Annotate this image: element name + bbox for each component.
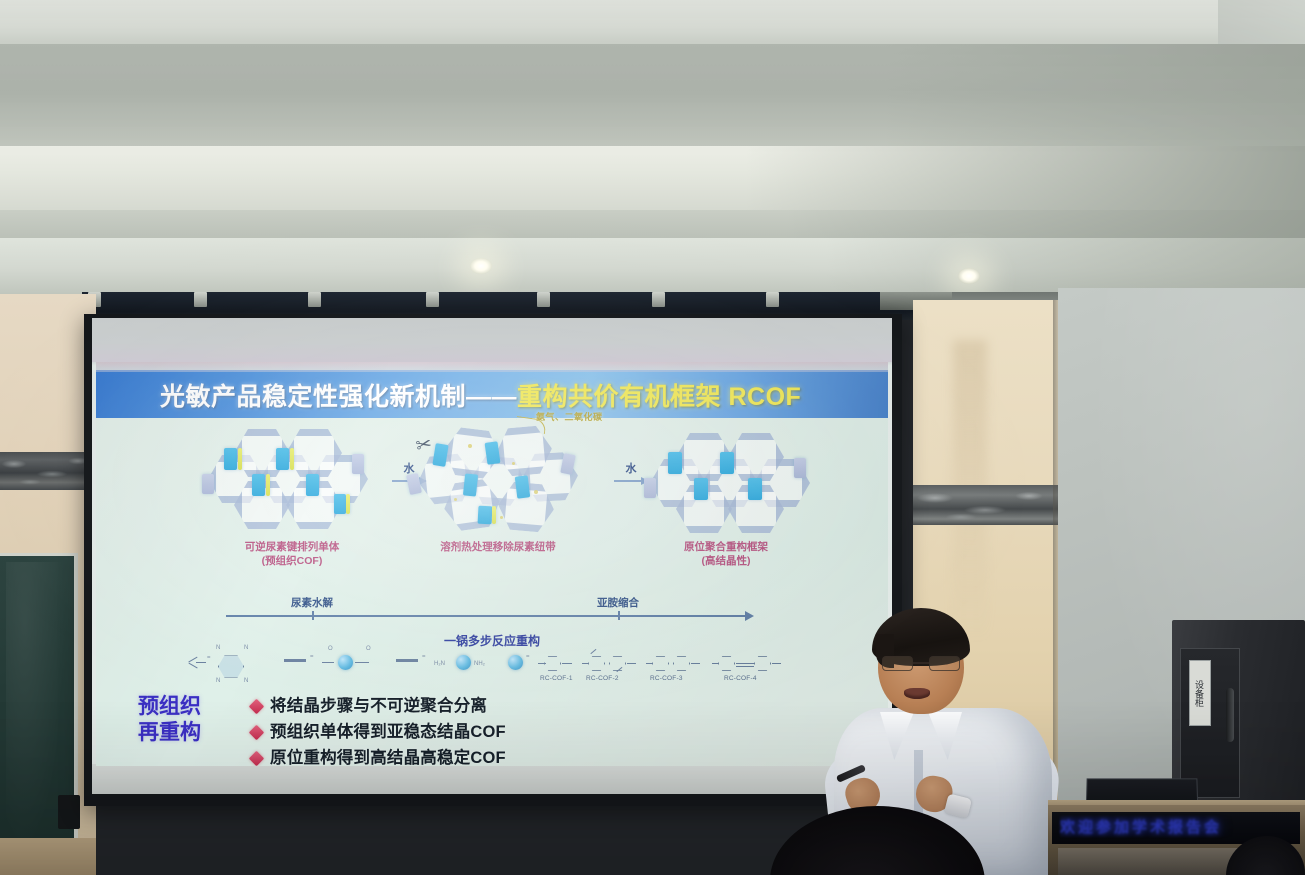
podium-banner-text: 欢迎参加学术报告会: [1060, 816, 1300, 837]
screen-unlit-top-margin: [92, 318, 892, 362]
timeline-tick-label-1: 尿素水解: [291, 595, 333, 610]
beam-clip: [426, 292, 439, 307]
cof-imine-linker: [668, 452, 682, 474]
cof-linker-segment: [306, 474, 319, 496]
slide-title: 光敏产品稳定性强化新机制——重构共价有机框架 RCOF: [160, 377, 801, 413]
bullet-item: 将结晶步骤与不可逆聚合分离: [251, 692, 506, 716]
cof-structure-stage-2: [408, 432, 588, 528]
cof-linker-segment: [276, 448, 289, 470]
chem-bond: [772, 663, 781, 664]
bullet-text: 原位重构得到高结晶高稳定COF: [270, 744, 506, 766]
lower-right-wall: [1058, 848, 1238, 875]
beam-clip: [652, 292, 665, 307]
ceiling-soffit: [0, 238, 1305, 294]
glasses-lens-right: [929, 656, 960, 671]
aryl-node-sphere: [508, 655, 523, 670]
ceiling-downlight-icon: [958, 268, 980, 284]
aryl-node-sphere: [338, 655, 353, 670]
stage-1-caption: 可逆尿素键排列单体 (预组织COF): [202, 540, 382, 568]
chem-equals-sign: =: [422, 654, 426, 660]
slide-keywords: 预组织 再重构: [138, 694, 201, 745]
reaction-arrow-2-label: 水: [614, 460, 648, 476]
chem-bond: [627, 663, 636, 664]
citation-journal: Nature: [676, 764, 722, 766]
cof-node-segment: [794, 458, 806, 478]
diamond-bullet-icon: [249, 751, 265, 766]
chem-legend-label-1: RC-COF-1: [540, 675, 573, 682]
benzene-ring: [754, 656, 771, 671]
gas-byproduct-label: 氨气、二氧化碳: [536, 410, 603, 423]
stage-2-caption-line1: 溶剂热处理移除尿素纽带: [398, 540, 598, 554]
bullet-item: 原位重构得到高结晶高稳定COF: [251, 744, 506, 766]
chem-bond: [646, 663, 653, 664]
cabinet-label: 设备柜: [1189, 660, 1211, 726]
beam-clip: [194, 292, 207, 307]
glasses-bridge: [913, 662, 929, 664]
keyword-line-1: 预组织: [138, 694, 201, 720]
timeline-tick: [312, 611, 314, 620]
projection-screen-surface: 光敏产品稳定性强化新机制——重构共价有机框架 RCOF: [92, 318, 892, 794]
cof-urea-bond: [266, 474, 270, 496]
reaction-timeline-axis: 尿素水解 亚胺缩合: [226, 615, 746, 617]
cof-reconstruction-diagram: 水: [96, 422, 888, 602]
chem-double-bond-glyph: [396, 659, 418, 662]
chem-bond: [355, 662, 369, 663]
stage-3-caption-line2: (高结晶性): [636, 554, 816, 568]
chem-substituent: O: [366, 646, 371, 652]
chem-bond: [562, 663, 572, 664]
glasses-icon: [882, 656, 960, 671]
cof-imine-linker: [694, 478, 708, 500]
chem-bond: [322, 662, 334, 663]
chem-bond: [582, 663, 589, 664]
cof-urea-bond: [290, 448, 294, 470]
chem-equals-sign: =: [310, 654, 314, 660]
gas-byproduct-dot: [468, 444, 472, 448]
cof-node-segment: [202, 474, 214, 494]
chem-substituent: NH₂: [474, 661, 485, 667]
chem-bond: [188, 663, 197, 669]
chem-legend-label-2: RC-COF-2: [586, 675, 619, 682]
left-wall-lower-wainscot: [0, 838, 96, 875]
chem-substituent: N: [216, 678, 220, 684]
chem-bond: [712, 663, 719, 664]
left-wall-granite-band: [0, 452, 92, 490]
chem-substituent: N: [216, 645, 220, 651]
chem-bond: [691, 663, 700, 664]
timeline-tick-label-2: 亚胺缩合: [597, 595, 639, 610]
timeline-tick: [618, 611, 620, 620]
cof-linker-segment: [224, 448, 237, 470]
alkyne-bond: [736, 666, 754, 667]
cof-imine-linker: [748, 478, 762, 500]
cof-urea-bond: [492, 506, 496, 524]
stage-1-caption-line2: (预组织COF): [202, 554, 382, 568]
stage-1-caption-line1: 可逆尿素键排列单体: [202, 540, 382, 554]
chemical-structure-legend: = N N N N = O O = H₂N NH₂ =: [188, 645, 828, 689]
methyl-group: [590, 649, 596, 654]
slide-citation: Nature, 2022, 604, 72-79: [676, 764, 840, 766]
keyword-line-2: 再重构: [138, 720, 201, 746]
cof-linker-segment: [334, 494, 346, 514]
stage-2-caption: 溶剂热处理移除尿素纽带: [398, 540, 598, 554]
benzene-ring: [652, 656, 669, 671]
cabinet-handle: [1226, 688, 1234, 742]
bullet-item: 预组织单体得到亚稳态结晶COF: [251, 718, 506, 742]
presenter-mouth: [904, 688, 930, 699]
gas-byproduct-dot: [500, 516, 503, 519]
diamond-bullet-icon: [249, 699, 265, 715]
chem-substituent: N: [244, 645, 248, 651]
ceiling-main-plane: [0, 44, 1305, 154]
cof-imine-linker: [720, 452, 734, 474]
chem-substituent: N: [244, 678, 248, 684]
blackboard-bracket: [58, 795, 80, 829]
chem-double-bond-glyph: [284, 659, 306, 662]
chem-legend-label-3: RC-COF-3: [650, 675, 683, 682]
right-column-granite-band: [913, 485, 1058, 525]
ceiling-lit-band: [0, 146, 1305, 214]
aryl-node-sphere: [456, 655, 471, 670]
diamond-bullet-icon: [249, 725, 265, 741]
chem-substituent: O: [328, 646, 333, 652]
cof-node-segment: [406, 473, 422, 495]
beam-clip: [308, 292, 321, 307]
stage-3-caption-line1: 原位聚合重构框架: [636, 540, 816, 554]
benzene-ring: [673, 656, 690, 671]
alkyne-bond: [736, 663, 754, 664]
benzene-ring: [544, 656, 561, 671]
triazine-core-ring: [218, 655, 244, 678]
cof-linker-segment: [463, 473, 478, 496]
bullet-text: 预组织单体得到亚稳态结晶COF: [270, 718, 506, 742]
benzene-ring: [588, 656, 605, 671]
slide-title-bar: 光敏产品稳定性强化新机制——重构共价有机框架 RCOF: [96, 370, 888, 418]
cof-linker-segment: [478, 506, 493, 525]
citation-details: , 2022, 604, 72-79: [722, 764, 840, 766]
presentation-slide: 光敏产品稳定性强化新机制——重构共价有机框架 RCOF: [96, 362, 888, 766]
lecture-hall-photo: 光敏产品稳定性强化新机制——重构共价有机框架 RCOF: [0, 0, 1305, 875]
cof-linker-segment: [515, 475, 531, 498]
ceiling-downlight-icon: [470, 258, 492, 274]
chem-substituent: H₂N: [434, 661, 445, 667]
gas-byproduct-dot: [534, 490, 538, 494]
cof-linker-segment: [485, 441, 501, 465]
screen-unlit-bottom-margin: [92, 764, 892, 794]
cof-linker-segment: [252, 474, 265, 496]
beam-clip: [766, 292, 779, 307]
chem-bond: [196, 662, 206, 663]
chem-legend-label-4: RC-COF-4: [724, 675, 757, 682]
chem-bond: [538, 663, 546, 664]
gas-byproduct-dot: [512, 462, 515, 465]
cof-node-segment: [644, 478, 656, 498]
benzene-ring: [718, 656, 735, 671]
cof-urea-bond: [238, 448, 242, 470]
gas-byproduct-dot: [454, 498, 457, 501]
bullet-text: 将结晶步骤与不可逆聚合分离: [270, 692, 487, 716]
slide-bullet-list: 将结晶步骤与不可逆聚合分离 预组织单体得到亚稳态结晶COF 原位重构得到高结晶高…: [251, 692, 506, 766]
slide-title-main: 光敏产品稳定性强化新机制——: [160, 383, 517, 411]
cof-urea-bond: [346, 494, 350, 514]
slide-title-accent: 重构共价有机框架 RCOF: [517, 383, 801, 411]
ceiling-upper-slab: [0, 0, 1305, 46]
cof-structure-stage-1: [202, 434, 382, 530]
cof-structure-stage-3: [644, 438, 824, 534]
reaction-arrow-2: [614, 480, 648, 482]
glasses-lens-left: [882, 656, 913, 671]
chem-equals-sign: =: [207, 655, 211, 661]
stage-3-caption: 原位聚合重构框架 (高结晶性): [636, 540, 816, 568]
chem-equals-sign: =: [526, 654, 530, 660]
beam-clip: [537, 292, 550, 307]
cof-node-segment: [352, 454, 364, 474]
